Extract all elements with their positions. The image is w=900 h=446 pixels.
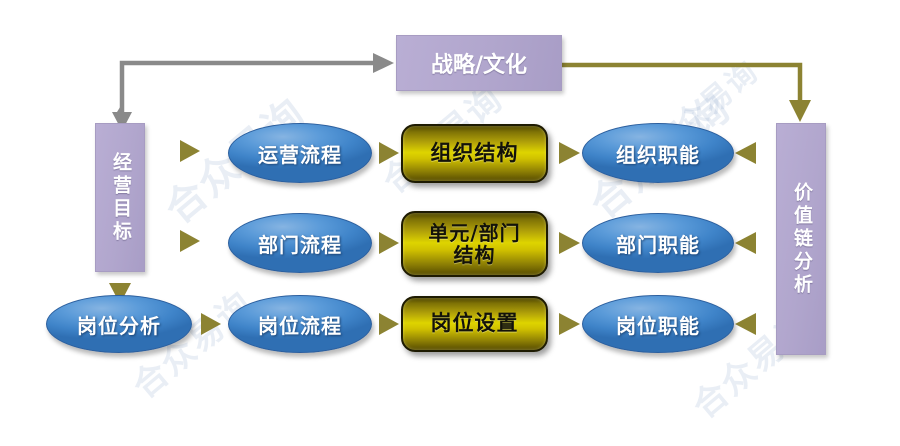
node-business-goal[interactable]: 经营目标 — [95, 123, 145, 272]
node-label: 价值链分析 — [791, 182, 811, 297]
edge-unit-structure-to-dept-function — [548, 232, 580, 254]
edge-position-process-to-position-setup — [370, 313, 399, 335]
node-dept-process[interactable]: 部门流程 — [228, 213, 372, 273]
node-position-analysis[interactable]: 岗位分析 — [46, 295, 192, 353]
node-label-line1: 单元/部门 — [428, 222, 520, 244]
edge-operation-to-org-structure — [370, 142, 399, 164]
edge-goal-to-dept-process — [160, 230, 200, 252]
edge-position-setup-to-position-function — [548, 313, 580, 335]
edge-valuechain-to-org-function — [735, 142, 782, 164]
node-label: 岗位设置 — [431, 312, 519, 336]
edge-goal-to-operation — [160, 140, 200, 162]
node-position-function[interactable]: 岗位职能 — [582, 295, 734, 353]
node-label: 经营目标 — [110, 152, 130, 244]
diagram-canvas: 合众易询 合众易询 合众易询 合众易询 合众易询 合众易询 — [0, 0, 900, 446]
node-value-chain-analysis[interactable]: 价值链分析 — [776, 123, 826, 355]
node-label: 部门职能 — [616, 229, 700, 258]
node-unit-dept-structure[interactable]: 单元/部门 结构 — [401, 211, 548, 277]
edge-goal-to-strategy-elbow — [112, 53, 394, 131]
edge-valuechain-to-dept-function — [735, 232, 782, 254]
node-label: 组织职能 — [616, 139, 700, 168]
node-dept-function[interactable]: 部门职能 — [582, 213, 734, 273]
edge-strategy-to-valuechain-elbow — [562, 65, 811, 122]
node-position-process[interactable]: 岗位流程 — [228, 295, 372, 353]
edge-position-analysis-to-position-process — [192, 313, 221, 335]
node-label: 组织结构 — [431, 142, 519, 166]
node-strategy-culture[interactable]: 战略/文化 — [396, 35, 562, 91]
node-operation-process[interactable]: 运营流程 — [228, 123, 372, 183]
node-org-function[interactable]: 组织职能 — [582, 123, 734, 183]
node-label: 战略/文化 — [431, 47, 527, 79]
node-label-line2: 结构 — [454, 244, 496, 266]
edge-org-structure-to-org-function — [548, 142, 580, 164]
node-label: 岗位流程 — [258, 310, 342, 339]
node-label: 岗位分析 — [77, 310, 161, 339]
node-label: 部门流程 — [258, 229, 342, 258]
edge-dept-process-to-unit-structure — [370, 232, 399, 254]
edge-valuechain-to-position-function — [735, 313, 782, 335]
node-label: 岗位职能 — [616, 310, 700, 339]
node-position-setup[interactable]: 岗位设置 — [401, 296, 548, 352]
node-label: 运营流程 — [258, 139, 342, 168]
node-org-structure[interactable]: 组织结构 — [401, 124, 548, 183]
